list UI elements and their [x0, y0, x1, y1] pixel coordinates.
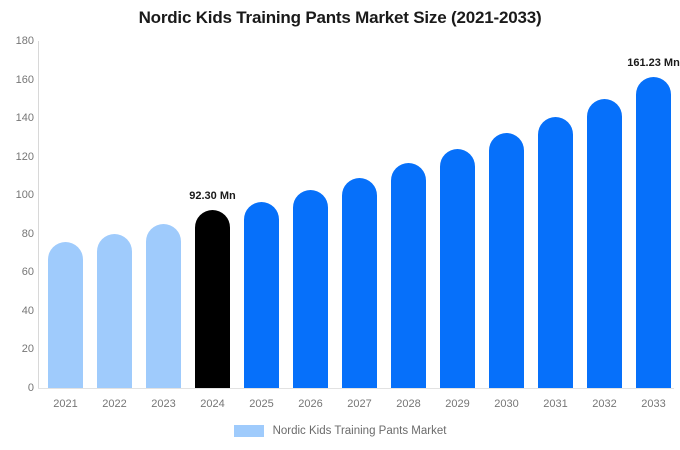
y-axis-tick-label: 180: [0, 35, 34, 47]
legend-swatch-icon: [234, 425, 264, 437]
bar-2032[interactable]: [587, 99, 622, 388]
y-axis-tick-label: 140: [0, 112, 34, 124]
bars-layer: 92.30 Mn161.23 Mn: [38, 0, 674, 450]
bar-2022[interactable]: [97, 234, 132, 388]
bar-2025[interactable]: [244, 202, 279, 388]
y-axis-tick-label: 120: [0, 151, 34, 163]
x-axis-tick-label: 2033: [624, 398, 680, 410]
chart-legend: Nordic Kids Training Pants Market: [0, 425, 680, 437]
bar-2023[interactable]: [146, 224, 181, 388]
bar-2033[interactable]: [636, 77, 671, 388]
bar-2029[interactable]: [440, 149, 475, 388]
y-axis-tick-label: 100: [0, 189, 34, 201]
legend-item-label: Nordic Kids Training Pants Market: [273, 425, 447, 437]
y-axis-tick-label: 60: [0, 266, 34, 278]
bar-2028[interactable]: [391, 163, 426, 388]
bar-2021[interactable]: [48, 242, 83, 388]
bar-value-label-2033: 161.23 Mn: [619, 57, 680, 69]
y-axis-tick-label: 40: [0, 305, 34, 317]
y-axis-tick-label: 80: [0, 228, 34, 240]
bar-2024[interactable]: [195, 210, 230, 388]
bar-2030[interactable]: [489, 133, 524, 388]
bar-2031[interactable]: [538, 117, 573, 388]
bar-chart: Nordic Kids Training Pants Market Size (…: [0, 0, 680, 450]
y-axis-tick-label: 160: [0, 74, 34, 86]
bar-value-label-2024: 92.30 Mn: [178, 190, 248, 202]
bar-2026[interactable]: [293, 190, 328, 388]
y-axis-tick-label: 20: [0, 343, 34, 355]
y-axis-tick-label: 0: [0, 382, 34, 394]
bar-2027[interactable]: [342, 178, 377, 388]
